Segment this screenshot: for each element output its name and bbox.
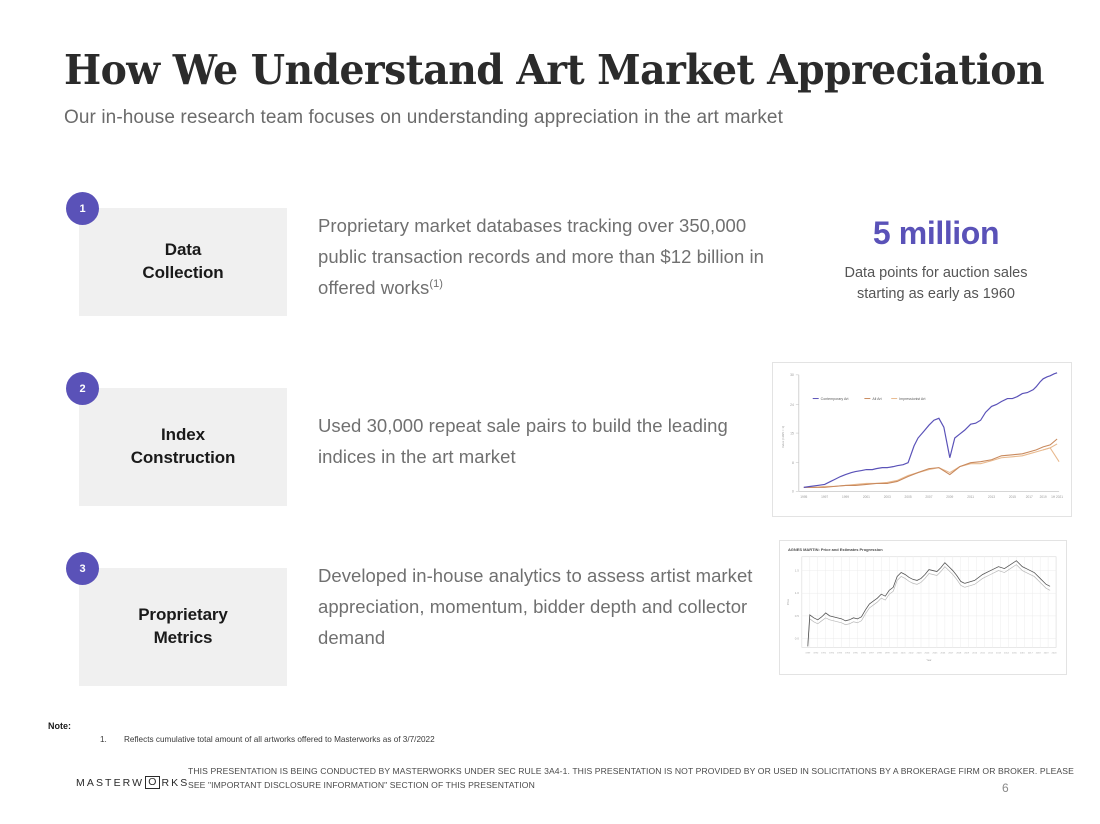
svg-text:2016: 2016 — [1020, 652, 1026, 654]
y-axis-tick-labels: 1.5 1.0 0.5 0.0 — [795, 569, 799, 641]
svg-text:0.0: 0.0 — [795, 637, 799, 641]
step-row-2: 2 Index Construction Used 30,000 repeat … — [0, 372, 1100, 522]
svg-text:1989: 1989 — [805, 652, 811, 654]
footnote-marker-1: (1) — [429, 278, 443, 290]
svg-text:2005: 2005 — [933, 652, 939, 654]
y-axis-tick-labels: 30 24 15 8 0 — [790, 373, 794, 493]
svg-text:2000: 2000 — [893, 652, 899, 654]
svg-text:2019: 2019 — [1040, 495, 1047, 499]
x-axis-tick-labels: 198919901991 199219931994 199519961997 1… — [805, 652, 1057, 654]
svg-text:2004: 2004 — [925, 652, 931, 654]
svg-text:2009: 2009 — [964, 652, 970, 654]
logo-text-part2: RKS — [161, 777, 189, 789]
svg-text:0.5: 0.5 — [795, 614, 799, 618]
svg-text:2003: 2003 — [917, 652, 923, 654]
svg-text:2006: 2006 — [940, 652, 946, 654]
legend-label-all-art: All Art — [872, 397, 881, 401]
svg-text:1997: 1997 — [821, 495, 828, 499]
step-badge-1: 1 — [66, 192, 99, 225]
svg-text:2018: 2018 — [1036, 652, 1042, 654]
step-box-2: Index Construction — [79, 388, 287, 506]
step-badge-2: 2 — [66, 372, 99, 405]
svg-text:1999: 1999 — [842, 495, 849, 499]
note-number: 1. — [100, 735, 107, 744]
disclaimer-text: THIS PRESENTATION IS BEING CONDUCTED BY … — [188, 764, 1088, 792]
svg-text:1.0: 1.0 — [795, 591, 799, 595]
art-index-chart: 30 24 15 8 0 Index (1995 = 1) 1995 1997 … — [772, 362, 1072, 517]
svg-text:2015: 2015 — [1012, 652, 1018, 654]
svg-text:2010: 2010 — [972, 652, 978, 654]
svg-text:2017: 2017 — [1028, 652, 1034, 654]
svg-text:30: 30 — [790, 373, 794, 377]
masterworks-logo: MASTERWORKS — [76, 776, 189, 789]
step-description-1-text: Proprietary market databases tracking ov… — [318, 215, 764, 298]
page-number: 6 — [1002, 781, 1009, 795]
step-row-3: 3 Proprietary Metrics Developed in-house… — [0, 552, 1100, 702]
step-description-2: Used 30,000 repeat sale pairs to build t… — [318, 410, 738, 472]
stat-caption-line1: Data points for auction sales — [845, 265, 1028, 281]
step-box-3: Proprietary Metrics — [79, 568, 287, 686]
svg-text:2003: 2003 — [884, 495, 891, 499]
stat-caption: Data points for auction sales starting a… — [806, 263, 1066, 305]
agnes-martin-chart: AGNES MARTIN: Price and Estimates Progre… — [779, 540, 1067, 675]
svg-text:1995: 1995 — [800, 495, 807, 499]
svg-text:2013: 2013 — [996, 652, 1002, 654]
svg-text:1.5: 1.5 — [795, 569, 799, 573]
svg-text:0: 0 — [792, 490, 794, 494]
svg-text:2007: 2007 — [948, 652, 954, 654]
svg-text:1991: 1991 — [821, 652, 827, 654]
svg-text:2002: 2002 — [909, 652, 915, 654]
y-axis-title: Index (1995 = 1) — [781, 426, 785, 448]
svg-text:1H 2021: 1H 2021 — [1051, 495, 1063, 499]
page-subtitle: Our in-house research team focuses on un… — [64, 107, 783, 129]
x-axis-title: Year — [926, 658, 931, 662]
stat-value: 5 million — [806, 216, 1066, 251]
step-box-label-3: Proprietary Metrics — [138, 604, 228, 650]
svg-text:2019: 2019 — [1044, 652, 1050, 654]
step-box-label-1-line1: Data — [165, 240, 201, 259]
legend-label-contemporary: Contemporary Art — [821, 397, 849, 401]
svg-text:2020: 2020 — [1052, 652, 1058, 654]
step-box-label-3-line2: Metrics — [154, 628, 213, 647]
step-badge-3: 3 — [66, 552, 99, 585]
svg-text:2017: 2017 — [1026, 495, 1033, 499]
svg-text:2011: 2011 — [980, 652, 985, 654]
svg-text:2001: 2001 — [863, 495, 870, 499]
svg-text:1998: 1998 — [877, 652, 883, 654]
svg-text:1993: 1993 — [837, 652, 843, 654]
step-box-label-2-line2: Construction — [131, 448, 236, 467]
chart-title: AGNES MARTIN: Price and Estimates Progre… — [788, 547, 883, 552]
step-box-label-2-line1: Index — [161, 425, 205, 444]
step-box-label-3-line1: Proprietary — [138, 605, 228, 624]
agnes-martin-chart-svg: AGNES MARTIN: Price and Estimates Progre… — [780, 541, 1066, 674]
svg-text:24: 24 — [790, 403, 794, 407]
svg-text:1990: 1990 — [813, 652, 819, 654]
svg-text:2012: 2012 — [988, 652, 994, 654]
logo-boxed-o: O — [145, 776, 160, 789]
series-line-price — [808, 563, 965, 647]
svg-text:2009: 2009 — [946, 495, 953, 499]
y-axis-title: Price — [786, 598, 790, 605]
page-title: How We Understand Art Market Appreciatio… — [64, 46, 1044, 94]
note-label: Note: — [48, 721, 71, 731]
step-box-1: Data Collection — [79, 208, 287, 316]
svg-text:2001: 2001 — [901, 652, 907, 654]
svg-text:2013: 2013 — [988, 495, 995, 499]
svg-text:1997: 1997 — [869, 652, 875, 654]
series-line-contemporary — [804, 373, 1057, 488]
svg-text:8: 8 — [792, 461, 794, 465]
svg-text:1999: 1999 — [885, 652, 891, 654]
logo-text-part1: MASTERW — [76, 777, 144, 789]
svg-text:1995: 1995 — [853, 652, 859, 654]
step-box-label-2: Index Construction — [131, 424, 236, 470]
svg-text:15: 15 — [790, 431, 794, 435]
svg-text:2007: 2007 — [925, 495, 932, 499]
step-box-label-1: Data Collection — [142, 239, 223, 285]
svg-text:1994: 1994 — [845, 652, 851, 654]
stat-caption-line2: starting as early as 1960 — [857, 286, 1015, 302]
step-box-label-1-line2: Collection — [142, 263, 223, 282]
svg-text:2014: 2014 — [1004, 652, 1010, 654]
art-index-chart-svg: 30 24 15 8 0 Index (1995 = 1) 1995 1997 … — [773, 363, 1071, 516]
svg-text:1992: 1992 — [829, 652, 835, 654]
svg-text:1996: 1996 — [861, 652, 867, 654]
svg-text:2008: 2008 — [956, 652, 962, 654]
svg-text:2015: 2015 — [1009, 495, 1016, 499]
note-text: Reflects cumulative total amount of all … — [124, 735, 435, 744]
svg-text:2011: 2011 — [967, 495, 974, 499]
x-axis-tick-labels: 1995 1997 1999 2001 2003 2005 2007 2009 … — [800, 495, 1063, 499]
series-line-estimate-tail — [965, 565, 1050, 591]
series-line-estimate — [808, 567, 965, 644]
stat-callout: 5 million Data points for auction sales … — [806, 216, 1066, 305]
svg-text:2005: 2005 — [905, 495, 912, 499]
step-row-1: 1 Data Collection Proprietary market dat… — [0, 192, 1100, 332]
step-description-3: Developed in-house analytics to assess a… — [318, 560, 768, 653]
step-description-1: Proprietary market databases tracking ov… — [318, 210, 798, 303]
legend-label-impressionist: Impressionist Art — [899, 397, 925, 401]
chart-legend: Contemporary Art All Art Impressionist A… — [813, 397, 926, 401]
series-line-all-art — [804, 439, 1057, 487]
y-axis-ticks — [796, 375, 799, 491]
